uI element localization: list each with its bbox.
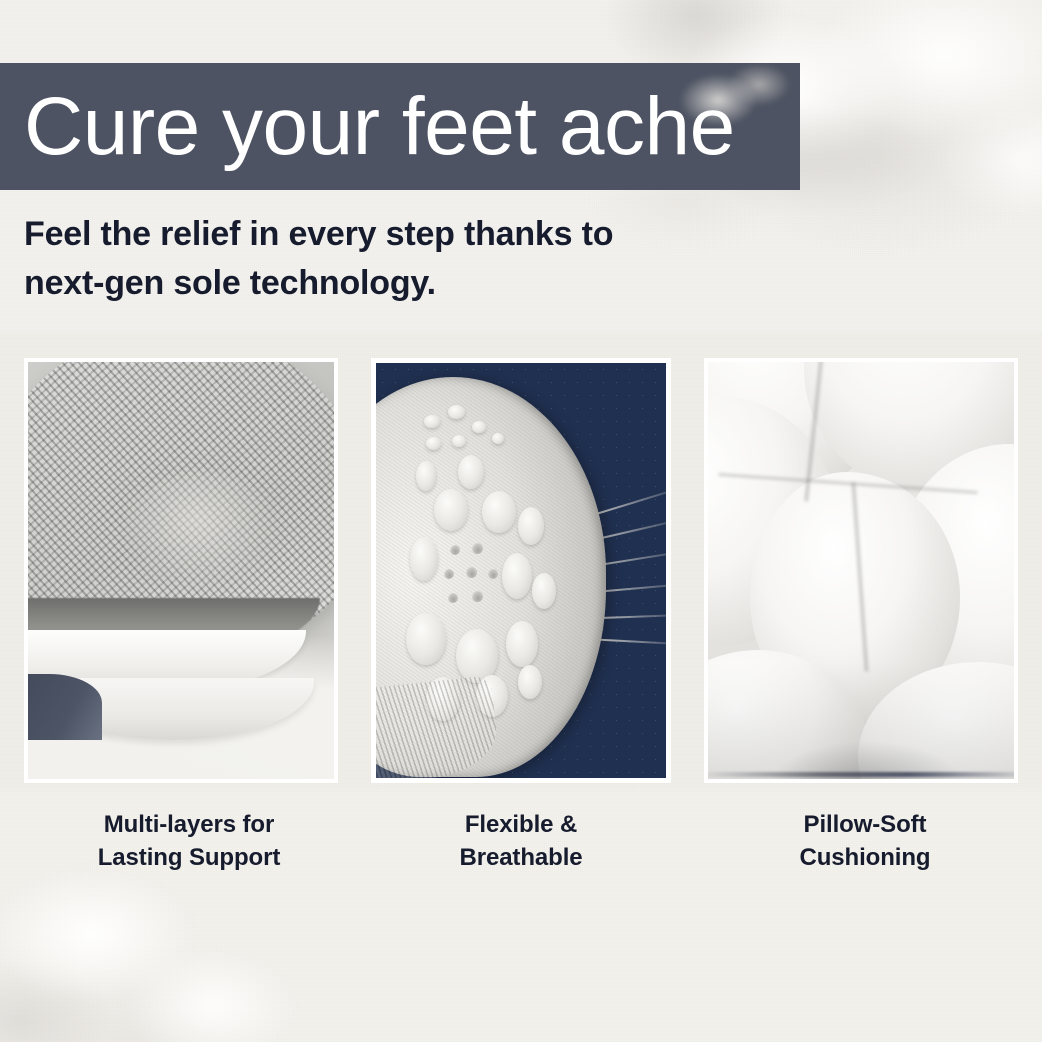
cushion-base-shadow bbox=[708, 772, 1014, 777]
cushion-shading bbox=[708, 362, 1014, 779]
feature-image-pillow-soft bbox=[704, 358, 1018, 783]
caption-line-1: Flexible & bbox=[356, 808, 686, 841]
caption-pillow-soft: Pillow-Soft Cushioning bbox=[700, 808, 1030, 874]
caption-line-2: Lasting Support bbox=[24, 841, 354, 874]
feature-image-flexible-breathable bbox=[371, 358, 671, 783]
caption-line-2: Cushioning bbox=[700, 841, 1030, 874]
promo-graphic: Cure your feet ache Feel the relief in e… bbox=[0, 0, 1042, 1042]
caption-multi-layers: Multi-layers for Lasting Support bbox=[24, 808, 354, 874]
page-title: Cure your feet ache bbox=[24, 86, 735, 168]
caption-line-1: Multi-layers for bbox=[24, 808, 354, 841]
subtitle-line-2: next-gen sole technology. bbox=[24, 259, 844, 308]
insole-ribbed-underside bbox=[376, 675, 500, 778]
headline-banner: Cure your feet ache bbox=[0, 63, 800, 190]
feature-panels bbox=[0, 358, 1042, 788]
caption-line-2: Breathable bbox=[356, 841, 686, 874]
pillow-cushion-illustration bbox=[708, 362, 1014, 779]
page-subtitle: Feel the relief in every step thanks to … bbox=[24, 210, 844, 309]
feature-image-multi-layers bbox=[24, 358, 338, 783]
insole-arch-highlight bbox=[124, 472, 284, 592]
caption-flexible-breathable: Flexible & Breathable bbox=[356, 808, 686, 874]
caption-line-1: Pillow-Soft bbox=[700, 808, 1030, 841]
flexible-insole-illustration bbox=[376, 363, 666, 778]
insole-texture-illustration bbox=[28, 362, 334, 779]
subtitle-line-1: Feel the relief in every step thanks to bbox=[24, 210, 844, 259]
feature-captions: Multi-layers for Lasting Support Flexibl… bbox=[0, 808, 1042, 908]
